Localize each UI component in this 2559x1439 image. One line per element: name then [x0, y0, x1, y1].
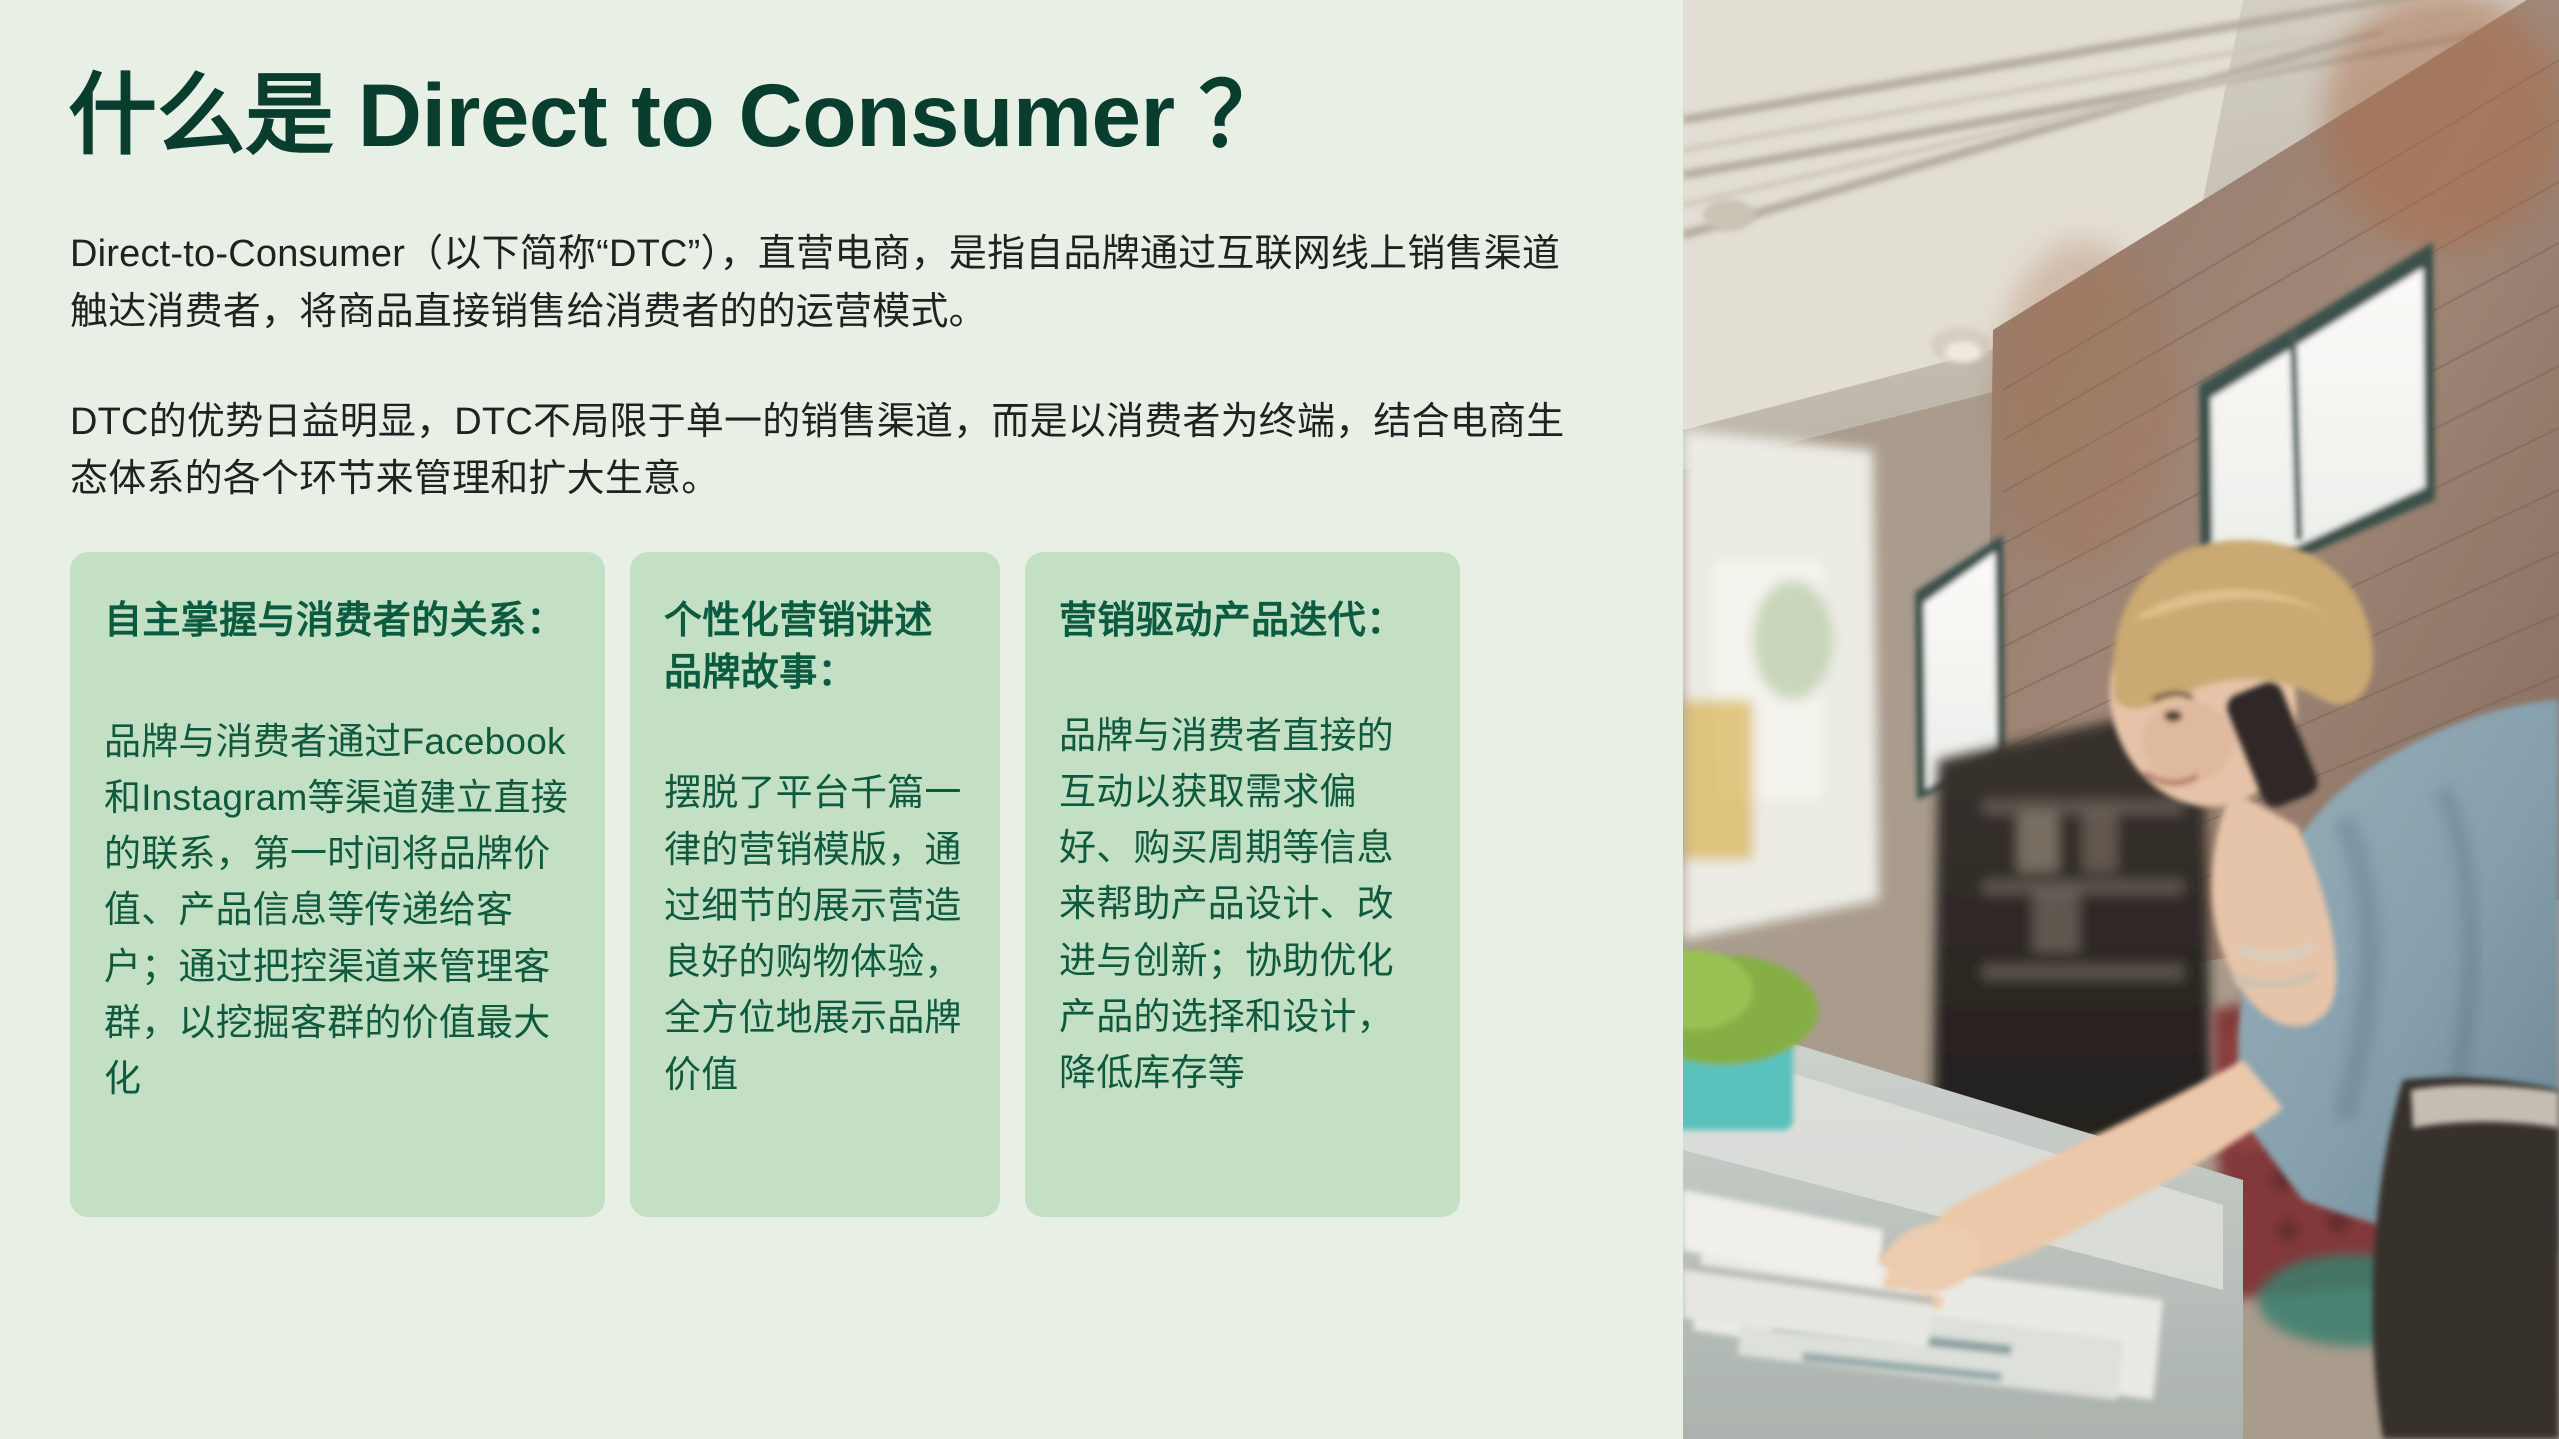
card-list: 自主掌握与消费者的关系： 品牌与消费者通过Facebook和Instagram等… [70, 552, 1465, 1217]
hero-photo [1683, 0, 2559, 1439]
card-heading: 个性化营销讲述品牌故事： [664, 596, 966, 699]
card-self-owned-relationship: 自主掌握与消费者的关系： 品牌与消费者通过Facebook和Instagram等… [70, 552, 605, 1217]
intro-paragraph-1: Direct-to-Consumer（以下简称“DTC”），直营电商，是指自品牌… [70, 226, 1590, 342]
card-body: 品牌与消费者直接的互动以获取需求偏好、购买周期等信息来帮助产品设计、改进与创新；… [1059, 708, 1426, 1102]
page-title: 什么是 Direct to Consumer ？ [68, 66, 1287, 166]
intro-paragraph-2: DTC的优势日益明显，DTC不局限于单一的销售渠道，而是以消费者为终端，结合电商… [70, 394, 1590, 510]
card-product-iteration: 营销驱动产品迭代： 品牌与消费者直接的互动以获取需求偏好、购买周期等信息来帮助产… [1025, 552, 1460, 1217]
card-body: 摆脱了平台千篇一律的营销模版，通过细节的展示营造良好的购物体验，全方位地展示品牌… [664, 765, 966, 1102]
card-heading: 自主掌握与消费者的关系： [104, 596, 571, 648]
intro-block: Direct-to-Consumer（以下简称“DTC”），直营电商，是指自品牌… [70, 226, 1590, 509]
content-column: 什么是 Direct to Consumer ？ Direct-to-Consu… [0, 0, 1683, 1439]
slide-root: 什么是 Direct to Consumer ？ Direct-to-Consu… [0, 0, 2559, 1439]
card-body: 品牌与消费者通过Facebook和Instagram等渠道建立直接的联系，第一时… [104, 714, 571, 1108]
card-heading: 营销驱动产品迭代： [1059, 596, 1426, 648]
card-personalized-marketing: 个性化营销讲述品牌故事： 摆脱了平台千篇一律的营销模版，通过细节的展示营造良好的… [630, 552, 1000, 1217]
